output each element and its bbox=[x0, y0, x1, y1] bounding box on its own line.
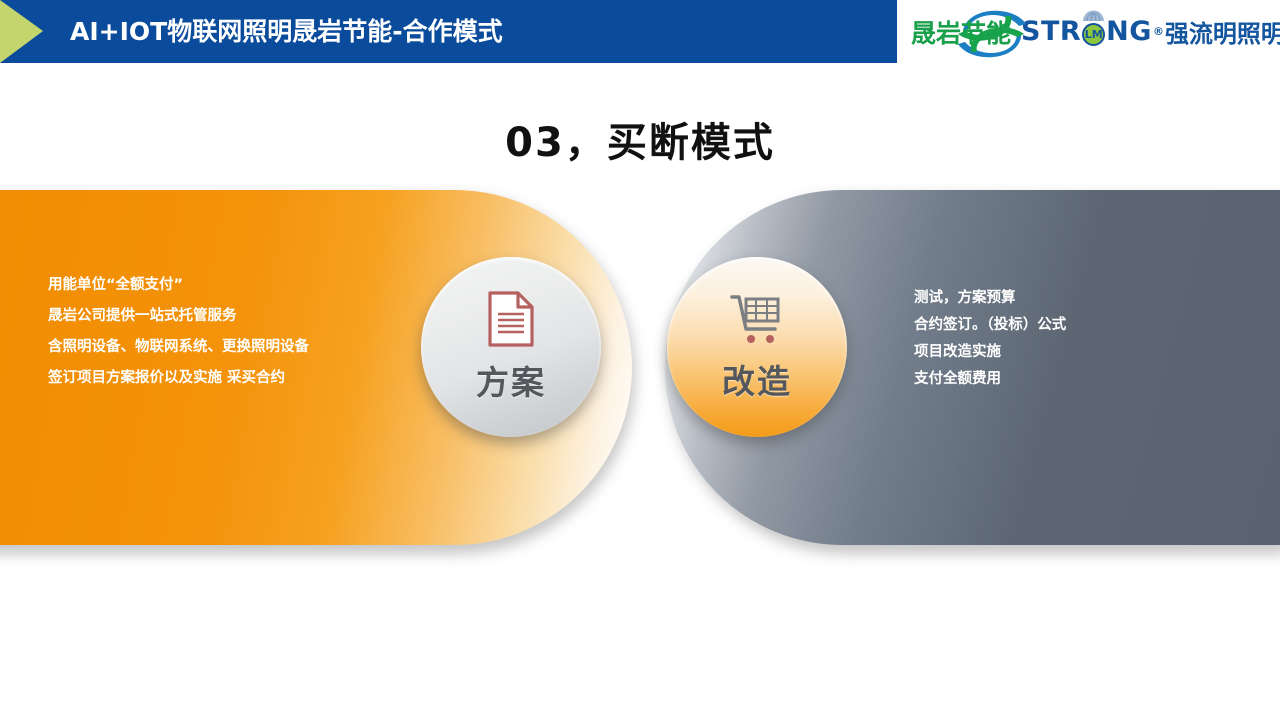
logo-brand-o-slot: LM bbox=[1081, 18, 1106, 45]
right-panel-line: 支付全额费用 bbox=[914, 366, 1244, 393]
plan-circle-label: 方案 bbox=[476, 356, 546, 404]
renovation-circle-label: 改造 bbox=[722, 355, 792, 403]
left-panel-text-block: 用能单位“全额支付” 晟岩公司提供一站式托管服务 含照明设备、物联网系统、更换照… bbox=[48, 270, 378, 394]
renovation-circle[interactable]: 改造 bbox=[667, 257, 847, 437]
right-panel-line: 测试，方案预算 bbox=[914, 285, 1244, 312]
logo-brand-strong: STR LM NG ® 强流明照明 bbox=[1021, 14, 1280, 49]
logo-brand-suffix: NG bbox=[1106, 16, 1152, 47]
right-panel-line: 合约签订。（投标）公式 bbox=[914, 312, 1244, 339]
header-title: AI+IOT物联网照明晟岩节能-合作模式 bbox=[70, 0, 503, 63]
right-panel-text-block: 测试，方案预算 合约签订。（投标）公式 项目改造实施 支付全额费用 bbox=[914, 285, 1244, 393]
page-title: 03，买断模式 bbox=[0, 110, 1280, 168]
left-panel-line: 含照明设备、物联网系统、更换照明设备 bbox=[48, 332, 378, 363]
logo-chinese-tagline: 强流明照明 bbox=[1165, 14, 1280, 49]
lamp-dome-icon bbox=[1081, 8, 1106, 22]
document-icon bbox=[487, 290, 535, 348]
left-panel-line: 用能单位“全额支付” bbox=[48, 270, 378, 301]
page-header: AI+IOT物联网照明晟岩节能-合作模式 晟岩节能 STR LM bbox=[0, 0, 1280, 63]
left-panel-line: 签订项目方案报价以及实施 采买合约 bbox=[48, 363, 378, 394]
plan-circle[interactable]: 方案 bbox=[421, 257, 601, 437]
shopping-cart-icon bbox=[729, 291, 785, 347]
registered-trademark-icon: ® bbox=[1153, 25, 1164, 38]
right-panel-line: 项目改造实施 bbox=[914, 339, 1244, 366]
company-logo: 晟岩节能 STR LM NG ® 强流明照 bbox=[895, 0, 1280, 63]
logo-chinese-name: 晟岩节能 bbox=[911, 14, 1011, 50]
logo-brand-prefix: STR bbox=[1021, 16, 1081, 47]
logo-lm-badge: LM bbox=[1082, 23, 1105, 46]
chevron-accent-icon bbox=[0, 0, 43, 63]
left-panel-line: 晟岩公司提供一站式托管服务 bbox=[48, 301, 378, 332]
